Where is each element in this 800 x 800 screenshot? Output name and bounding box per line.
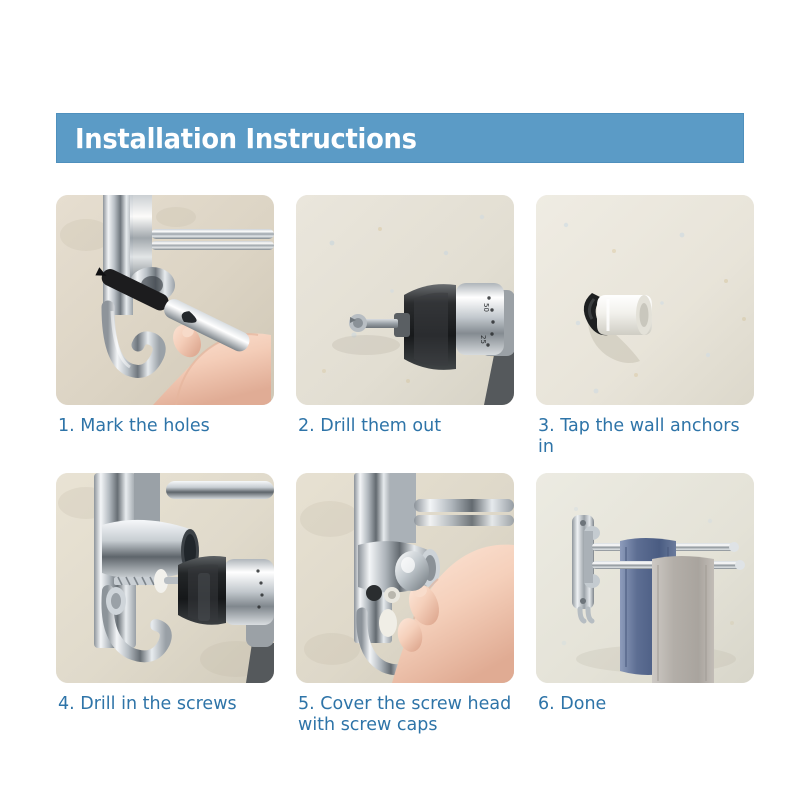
illustration-drill-in-the-screws (56, 473, 274, 683)
step-photo-1 (56, 195, 274, 405)
illustration-done-finished-towel-rack (536, 473, 754, 683)
illustration-drill-them-out: 50 25 (296, 195, 514, 405)
step-card-2: 50 25 (296, 195, 514, 458)
illustration-mark-the-holes (56, 195, 274, 405)
step-caption-4: 4. Drill in the screws (56, 694, 274, 715)
svg-text:50: 50 (482, 303, 490, 312)
steps-row-bottom: 4. Drill in the screws (56, 473, 744, 736)
step-photo-4 (56, 473, 274, 683)
step-photo-6 (536, 473, 754, 683)
step-photo-5 (296, 473, 514, 683)
step-caption-1: 1. Mark the holes (56, 416, 274, 437)
step-card-6: 6. Done (536, 473, 754, 736)
step-caption-3: 3. Tap the wall anchors in (536, 416, 754, 458)
step-photo-2: 50 25 (296, 195, 514, 405)
step-card-1: 1. Mark the holes (56, 195, 274, 458)
grey-towel (652, 556, 714, 683)
step-card-3: 3. Tap the wall anchors in (536, 195, 754, 458)
step-card-4: 4. Drill in the screws (56, 473, 274, 736)
steps-grid: 1. Mark the holes (56, 195, 744, 736)
steps-row-top: 1. Mark the holes (56, 195, 744, 458)
wall-anchor (597, 295, 652, 335)
illustration-cover-screw-head-with-caps (296, 473, 514, 683)
svg-text:25: 25 (479, 335, 487, 344)
step-photo-3 (536, 195, 754, 405)
header-banner: Installation Instructions (56, 113, 744, 163)
step-caption-5: 5. Cover the screw head with screw caps (296, 694, 548, 736)
step-caption-2: 2. Drill them out (296, 416, 514, 437)
illustration-tap-wall-anchors-in (536, 195, 754, 405)
step-caption-6: 6. Done (536, 694, 754, 715)
step-card-5: 5. Cover the screw head with screw caps (296, 473, 514, 736)
instruction-sheet: Installation Instructions (0, 0, 800, 800)
page-title: Installation Instructions (75, 122, 417, 155)
